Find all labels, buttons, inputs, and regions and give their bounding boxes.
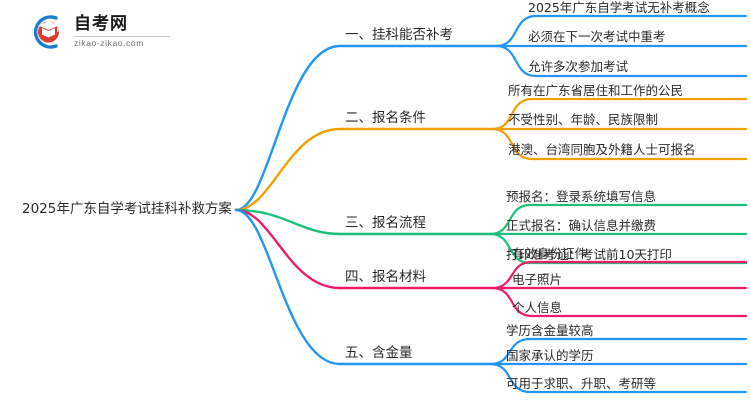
branch-label-5[interactable]: 五、含金量 (345, 347, 413, 361)
leaf-label-5-3[interactable]: 可用于求职、升职、考研等 (506, 378, 656, 391)
leaf-label-2-2[interactable]: 不受性别、年龄、民族限制 (508, 114, 658, 127)
leaf-label-5-2[interactable]: 国家承认的学历 (506, 350, 594, 363)
branch-label-2[interactable]: 二、报名条件 (345, 112, 426, 126)
leaf-label-1-2[interactable]: 必须在下一次考试中重考 (528, 31, 666, 44)
leaf-label-3-2[interactable]: 正式报名：确认信息并缴费 (506, 220, 656, 233)
branch-label-4[interactable]: 四、报名材料 (345, 271, 426, 285)
leaf-label-2-1[interactable]: 所有在广东省居住和工作的公民 (508, 85, 683, 98)
mindmap-root-label[interactable]: 2025年广东自学考试挂科补救方案 (22, 203, 232, 217)
leaf-label-2-3[interactable]: 港澳、台湾同胞及外籍人士可报名 (508, 144, 696, 157)
branch-label-3[interactable]: 三、报名流程 (345, 217, 426, 231)
leaf-label-4-3[interactable]: 个人信息 (512, 302, 562, 315)
leaf-label-4-2[interactable]: 电子照片 (512, 274, 562, 287)
leaf-label-4-1[interactable]: 有效身份证件 (512, 248, 587, 261)
leaf-label-1-1[interactable]: 2025年广东自学考试无补考概念 (528, 2, 710, 15)
branch-label-1[interactable]: 一、挂科能否补考 (345, 29, 453, 43)
leaf-label-5-1[interactable]: 学历含金量较高 (506, 325, 594, 338)
leaf-label-1-3[interactable]: 允许多次参加考试 (528, 61, 628, 74)
leaf-label-3-1[interactable]: 预报名：登录系统填写信息 (506, 191, 656, 204)
